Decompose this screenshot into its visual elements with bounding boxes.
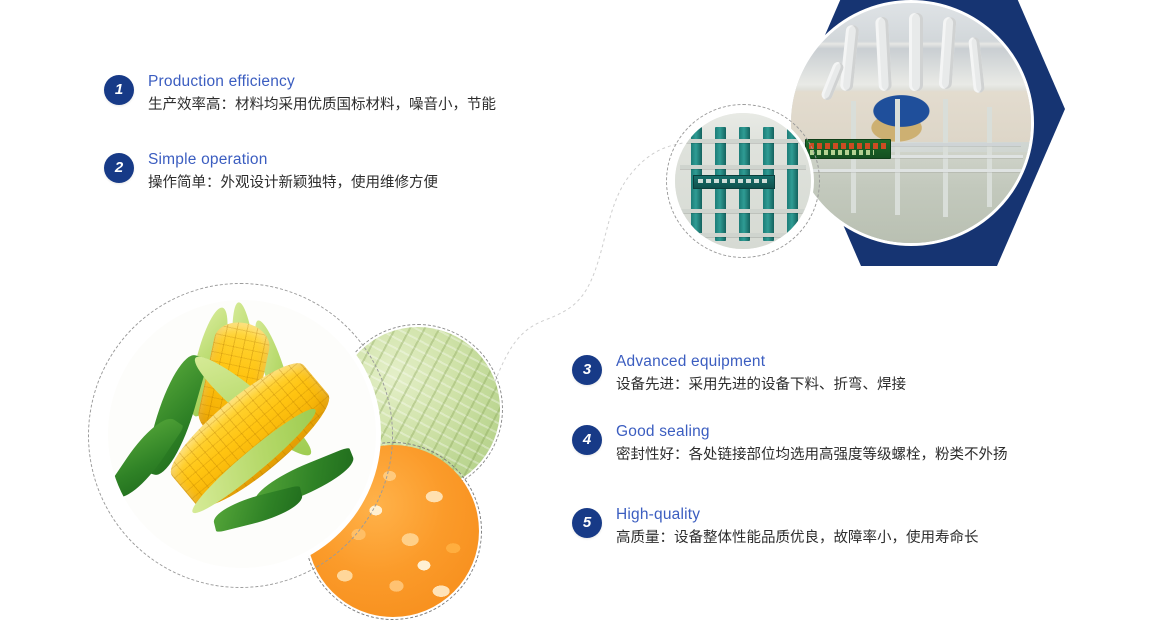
photo-banner [805, 139, 891, 159]
feature-text-block: High-quality 高质量：设备整体性能品质优良，故障率小，使用寿命长 [616, 505, 979, 549]
hexagon-photo-frame [793, 0, 1065, 266]
feature-description: 设备先进：采用先进的设备下料、折弯、焊接 [616, 374, 906, 396]
feature-item-3[interactable]: 3 Advanced equipment 设备先进：采用先进的设备下料、折弯、焊… [572, 352, 906, 396]
feature-title: High-quality [616, 505, 979, 525]
feature-description: 密封性好：各处链接部位均选用高强度等级螺栓，粉类不外扬 [616, 444, 1008, 466]
feature-text-block: Good sealing 密封性好：各处链接部位均选用高强度等级螺栓，粉类不外扬 [616, 422, 1008, 466]
teal-photo-banner [693, 175, 775, 189]
feature-item-2[interactable]: 2 Simple operation 操作简单：外观设计新颖独特，使用维修方便 [104, 150, 438, 194]
feature-description: 操作简单：外观设计新颖独特，使用维修方便 [148, 172, 438, 194]
green-machinery-photo [672, 110, 814, 252]
feature-text-block: Advanced equipment 设备先进：采用先进的设备下料、折弯、焊接 [616, 352, 906, 396]
milling-plant-photo [788, 0, 1034, 246]
feature-number-badge: 2 [104, 153, 134, 183]
feature-description: 生产效率高：材料均采用优质国标材料，噪音小，节能 [148, 94, 496, 116]
feature-title: Advanced equipment [616, 352, 906, 372]
feature-number-badge: 5 [572, 508, 602, 538]
feature-text-block: Production efficiency 生产效率高：材料均采用优质国标材料，… [148, 72, 496, 116]
feature-number-badge: 3 [572, 355, 602, 385]
feature-item-5[interactable]: 5 High-quality 高质量：设备整体性能品质优良，故障率小，使用寿命长 [572, 505, 979, 549]
feature-title: Production efficiency [148, 72, 496, 92]
feature-number-badge: 1 [104, 75, 134, 105]
feature-item-1[interactable]: 1 Production efficiency 生产效率高：材料均采用优质国标材… [104, 72, 496, 116]
feature-title: Simple operation [148, 150, 438, 170]
feature-description: 高质量：设备整体性能品质优良，故障率小，使用寿命长 [616, 527, 979, 549]
feature-number-badge: 4 [572, 425, 602, 455]
feature-title: Good sealing [616, 422, 1008, 442]
photo-detail-ducts [791, 3, 1031, 243]
infographic-canvas: 1 Production efficiency 生产效率高：材料均采用优质国标材… [0, 0, 1154, 591]
feature-text-block: Simple operation 操作简单：外观设计新颖独特，使用维修方便 [148, 150, 438, 194]
feature-item-4[interactable]: 4 Good sealing 密封性好：各处链接部位均选用高强度等级螺栓，粉类不… [572, 422, 1008, 466]
corn-cob-photo [108, 300, 376, 568]
